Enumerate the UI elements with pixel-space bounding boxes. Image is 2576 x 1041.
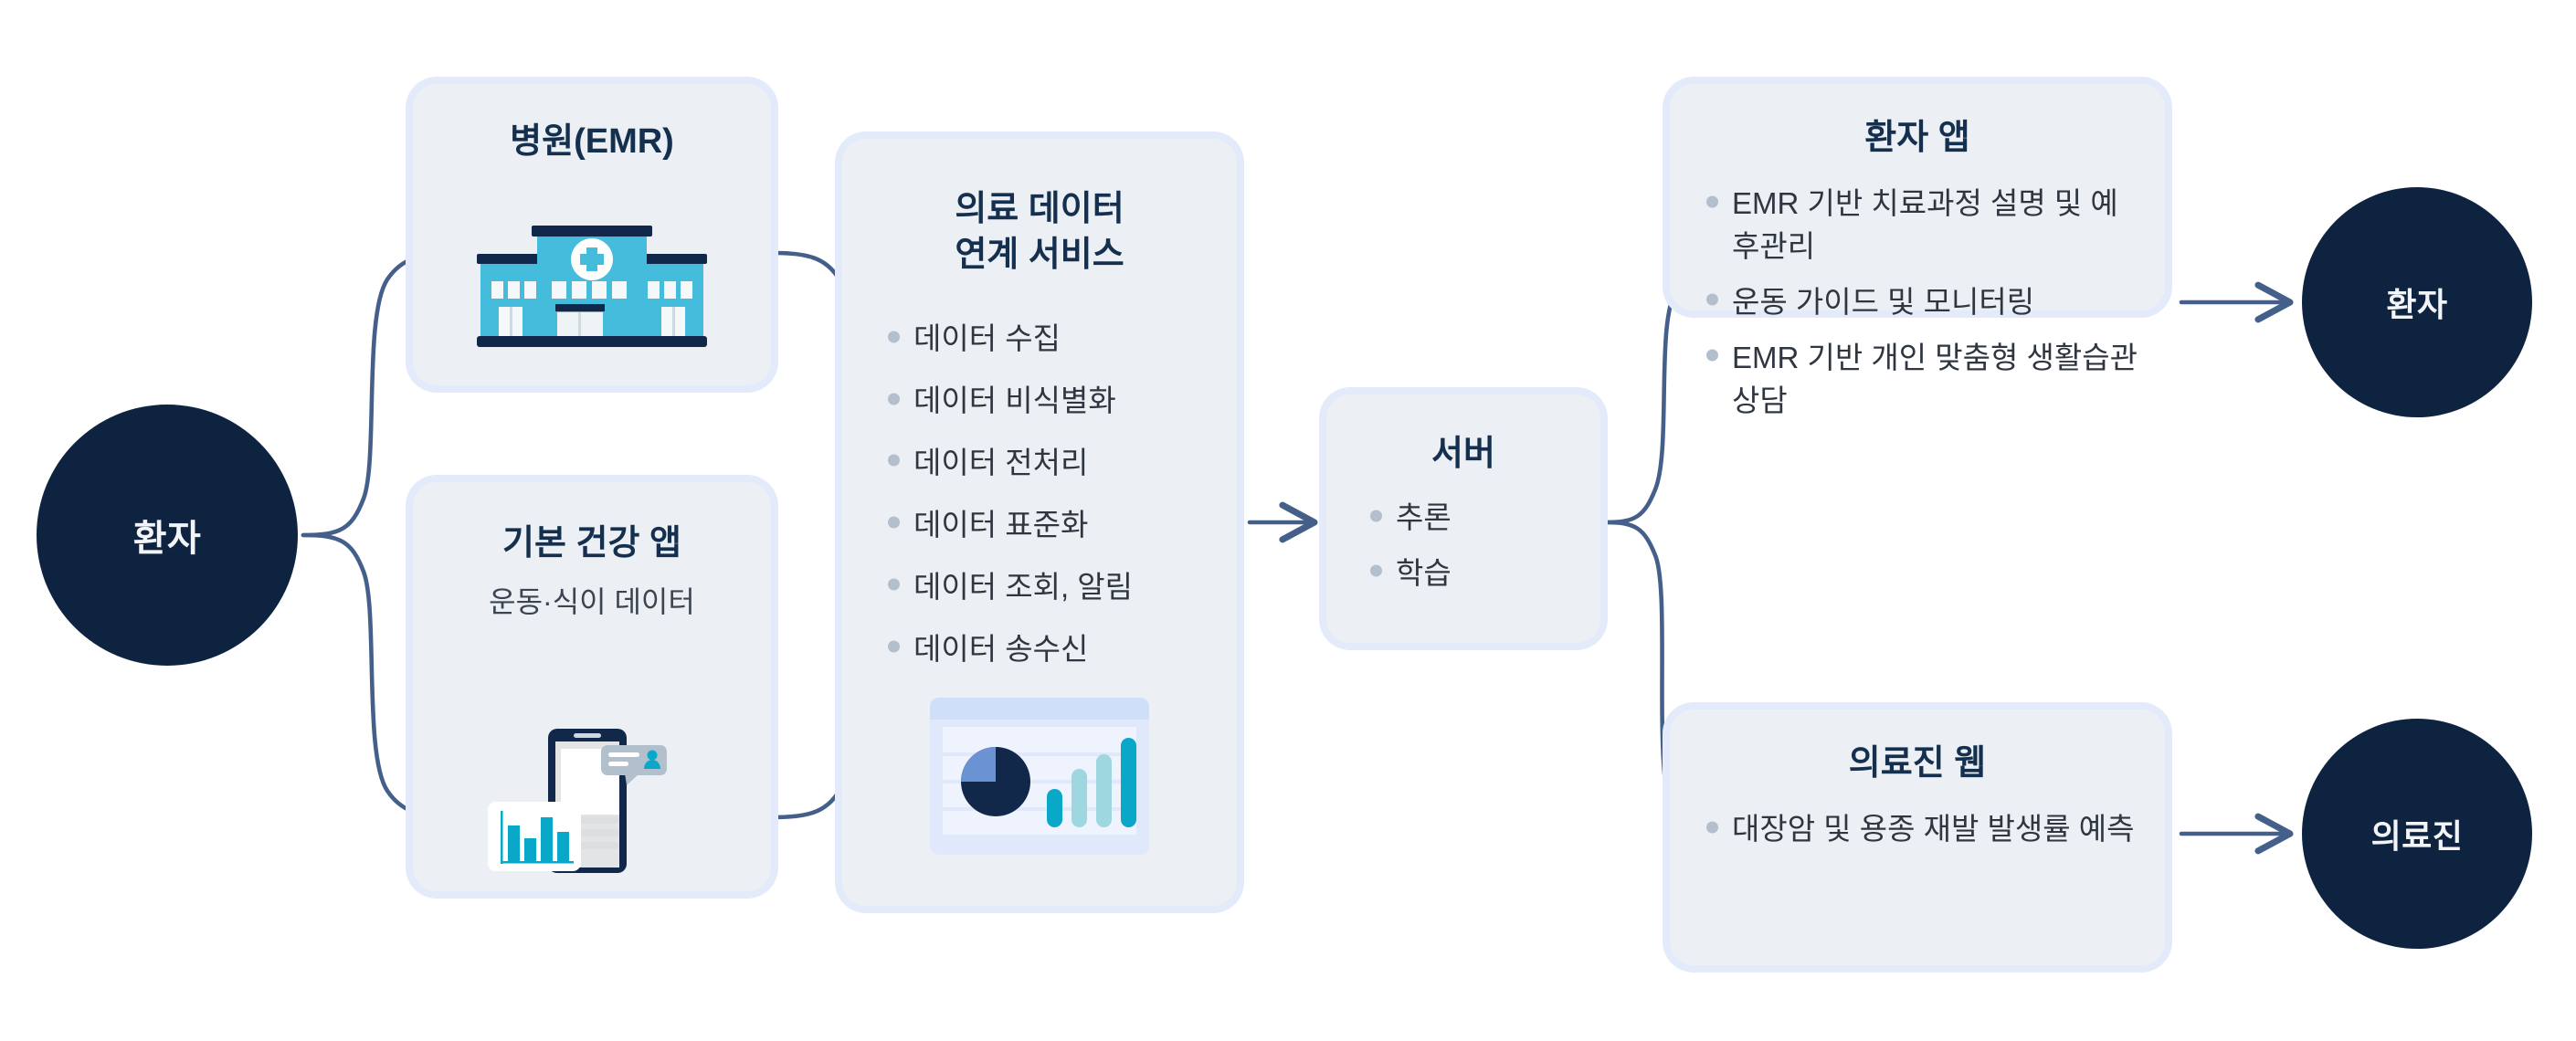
- card-health-app-subtitle: 운동·식이 데이터: [413, 566, 771, 621]
- card-health-app-title: 기본 건강 앱: [413, 482, 771, 566]
- list-item: 데이터 송수신: [882, 628, 1237, 671]
- list-item: 대장암 및 용종 재발 발생률 예측: [1701, 808, 2139, 851]
- actor-patient-right-label: 환자: [2386, 279, 2447, 326]
- list-item: 데이터 비식별화: [882, 380, 1237, 423]
- list-item: 데이터 조회, 알림: [882, 566, 1237, 609]
- smartphone-chart-icon: [488, 729, 696, 884]
- list-item: 데이터 수집: [882, 318, 1237, 361]
- card-data-service-title-line2: 연계 서비스: [842, 232, 1237, 278]
- list-item: 추론: [1365, 497, 1600, 540]
- card-data-service[interactable]: 의료 데이터 연계 서비스 데이터 수집 데이터 비식별화 데이터 전처리 데이…: [842, 139, 1237, 906]
- card-clinician-web[interactable]: 의료진 웹 대장암 및 용종 재발 발생률 예측: [1670, 710, 2165, 965]
- card-server[interactable]: 서버 추론 학습: [1326, 394, 1600, 643]
- actor-patient-left[interactable]: 환자: [37, 405, 298, 666]
- card-clinician-web-title: 의료진 웹: [1670, 710, 2165, 786]
- card-data-service-title: 의료 데이터 연계 서비스: [842, 139, 1237, 278]
- actor-patient-left-label: 환자: [133, 509, 202, 562]
- actor-clinician-right-label: 의료진: [2371, 810, 2464, 857]
- card-patient-app-bullets: EMR 기반 치료과정 설명 및 예후관리 운동 가이드 및 모니터링 EMR …: [1701, 183, 2139, 422]
- card-patient-app-title: 환자 앱: [1670, 84, 2165, 161]
- list-item: EMR 기반 개인 맞춤형 생활습관 상담: [1701, 337, 2139, 423]
- card-data-service-bullets: 데이터 수집 데이터 비식별화 데이터 전처리 데이터 표준화 데이터 조회, …: [882, 318, 1237, 670]
- list-item: 데이터 표준화: [882, 504, 1237, 547]
- card-server-title: 서버: [1326, 394, 1600, 477]
- list-item: 운동 가이드 및 모니터링: [1701, 281, 2139, 324]
- actor-patient-right[interactable]: 환자: [2302, 187, 2532, 417]
- list-item: 데이터 전처리: [882, 442, 1237, 485]
- hospital-building-icon: [477, 221, 707, 358]
- list-item: EMR 기반 치료과정 설명 및 예후관리: [1701, 183, 2139, 268]
- actor-clinician-right[interactable]: 의료진: [2302, 719, 2532, 949]
- card-data-service-title-line1: 의료 데이터: [842, 186, 1237, 232]
- dashboard-chart-icon: [930, 698, 1149, 855]
- connector-layer: [0, 0, 2576, 1041]
- card-hospital[interactable]: 병원(EMR): [413, 84, 771, 385]
- card-health-app[interactable]: 기본 건강 앱 운동·식이 데이터: [413, 482, 771, 891]
- card-clinician-web-bullets: 대장암 및 용종 재발 발생률 예측: [1701, 808, 2139, 851]
- list-item: 학습: [1365, 552, 1600, 595]
- diagram-canvas: 환자 환자 의료진 병원(EMR): [0, 0, 2576, 1041]
- card-hospital-title: 병원(EMR): [413, 84, 771, 164]
- card-patient-app[interactable]: 환자 앱 EMR 기반 치료과정 설명 및 예후관리 운동 가이드 및 모니터링…: [1670, 84, 2165, 310]
- card-server-bullets: 추론 학습: [1365, 497, 1600, 595]
